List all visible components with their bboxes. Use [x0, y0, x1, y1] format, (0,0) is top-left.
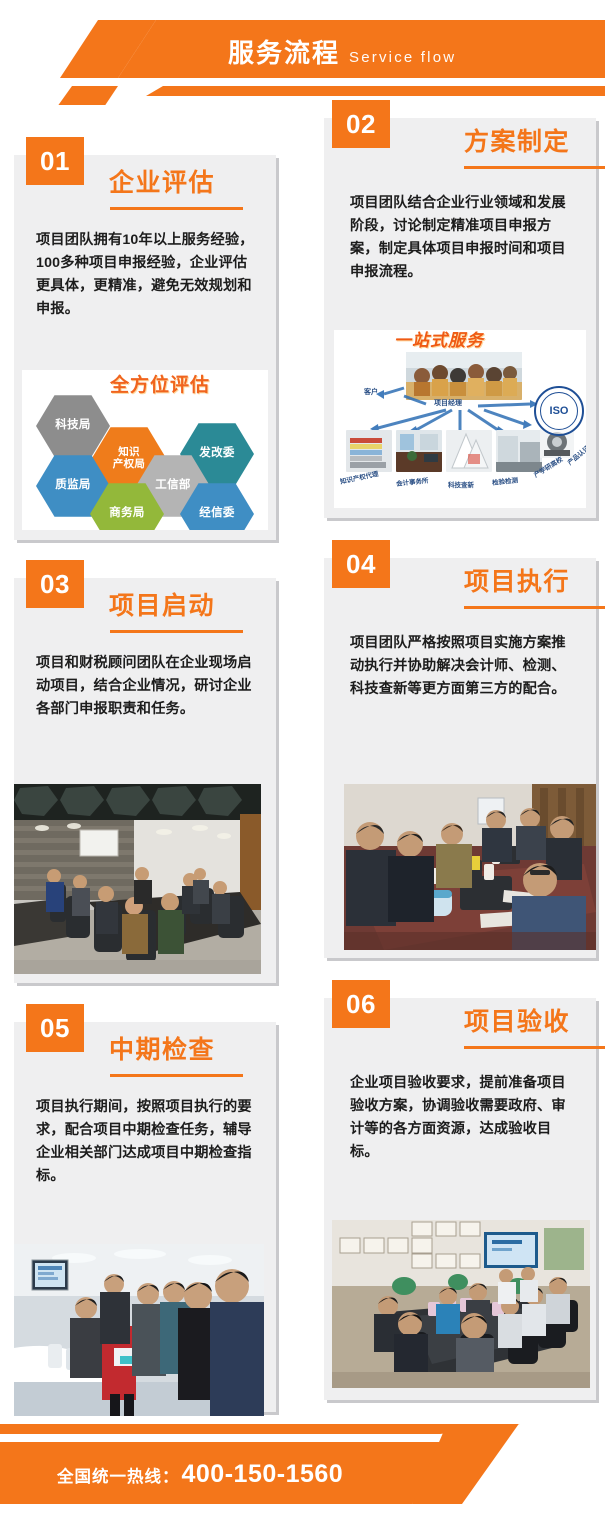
- one-stop-seal-icon: ISO: [534, 386, 584, 436]
- card-01-head: 01 企业评估: [14, 155, 276, 229]
- header-banner-shape: [0, 0, 605, 105]
- hex-node-label: 工信部: [155, 479, 190, 492]
- card-06-head: 06 项目验收: [324, 998, 596, 1072]
- step-card-01[interactable]: 01 企业评估 项目团队拥有10年以上服务经验，100多种项目申报经验，企业评估…: [14, 155, 276, 540]
- footer-banner: 全国统一热线： 400-150-1560: [0, 1424, 605, 1524]
- one-stop-diagram: 一站式服务: [334, 330, 586, 508]
- header-main-bar: [118, 20, 605, 78]
- card-04-title-rule: [464, 606, 605, 609]
- card-06-number-badge: 06: [332, 980, 390, 1028]
- photo-boardroom-review: [332, 1220, 590, 1388]
- one-stop-node-manager: 项目经理: [434, 398, 462, 408]
- hex-diagram-title: 全方位评估: [110, 376, 210, 395]
- photo-conference-room: [14, 784, 261, 974]
- card-03-title: 项目启动: [109, 594, 215, 619]
- card-05-head: 05 中期检查: [14, 1022, 276, 1096]
- card-02-head: 02 方案制定: [324, 118, 596, 192]
- footer-accent-stripe: [0, 1424, 460, 1434]
- step-card-04[interactable]: 04 项目执行 项目团队严格按照项目实施方案推动执行并协助解决会计师、检测、科技…: [324, 558, 596, 958]
- card-06-title-rule: [464, 1046, 605, 1049]
- hex-node-label: 发改委: [199, 447, 234, 460]
- hex-node-label: 经信委: [199, 507, 234, 520]
- card-02-number-badge: 02: [332, 100, 390, 148]
- header-slant-stripe: [42, 86, 118, 105]
- header-accent-stripe: [146, 86, 605, 96]
- header-banner: 服务流程 Service flow: [0, 0, 605, 105]
- card-01-title: 企业评估: [109, 171, 215, 196]
- card-03-title-rule: [110, 630, 243, 633]
- lobby-visit-art: [14, 1244, 264, 1416]
- one-stop-thumb-ip: [346, 430, 392, 472]
- card-02-body: 项目团队结合企业行业领域和发展阶段，讨论制定精准项目申报方案，制定具体项目申报时…: [324, 192, 596, 284]
- footer-banner-shape: [0, 1424, 605, 1534]
- card-06-body: 企业项目验收要求，提前准备项目验收方案，协调验收需要政府、审计等的各方面资源，达…: [324, 1072, 596, 1164]
- card-02-title-rule: [464, 166, 605, 169]
- card-03-number-badge: 03: [26, 560, 84, 608]
- one-stop-node-customer: 客户: [364, 387, 378, 397]
- card-05-title: 中期检查: [109, 1038, 215, 1063]
- footer-slant-wedge: [412, 1424, 540, 1504]
- hex-node-label: 商务局: [109, 507, 144, 520]
- card-05-number-badge: 05: [26, 1004, 84, 1052]
- card-04-body: 项目团队严格按照项目实施方案推动执行并协助解决会计师、检测、科技查新等更方面第三…: [324, 632, 596, 701]
- one-stop-thumb-search: [446, 430, 492, 472]
- meeting-laptops-art: [344, 784, 596, 950]
- card-04-head: 04 项目执行: [324, 558, 596, 632]
- card-05-body: 项目执行期间，按照项目执行的要求，配合项目中期检查任务，辅导企业相关部门达成项目…: [14, 1096, 276, 1188]
- card-01-title-rule: [110, 207, 243, 210]
- card-04-number-badge: 04: [332, 540, 390, 588]
- one-stop-thumb-accounting: [396, 430, 442, 472]
- card-03-body: 项目和财税顾问团队在企业现场启动项目，结合企业情况，研讨企业各部门申报职责和任务…: [14, 652, 276, 721]
- boardroom-review-art: [332, 1220, 590, 1388]
- conference-room-art: [14, 784, 261, 974]
- card-03-head: 03 项目启动: [14, 578, 276, 652]
- hex-node-label: 科技局: [55, 419, 90, 432]
- card-02-title: 方案制定: [464, 130, 570, 155]
- one-stop-thumb-inspection: [496, 430, 542, 472]
- card-05-title-rule: [110, 1074, 243, 1077]
- photo-meeting-laptops: [344, 784, 596, 950]
- one-stop-seal-text: ISO: [550, 405, 569, 417]
- step-card-05[interactable]: 05 中期检查 项目执行期间，按照项目执行的要求，配合项目中期检查任务，辅导企业…: [14, 1022, 276, 1412]
- footer-main-bar: [0, 1442, 450, 1504]
- step-card-03[interactable]: 03 项目启动 项目和财税顾问团队在企业现场启动项目，结合企业情况，研讨企业各部…: [14, 578, 276, 983]
- card-01-number-badge: 01: [26, 137, 84, 185]
- hex-node-label: 质监局: [55, 479, 90, 492]
- card-06-title: 项目验收: [464, 1010, 570, 1035]
- hex-diagram: 全方位评估 科技局 知识产权局 发改委 质监局 工信部 商务局 经信委: [22, 370, 268, 530]
- card-01-body: 项目团队拥有10年以上服务经验，100多种项目申报经验，企业评估更具体，更精准，…: [14, 229, 276, 321]
- step-card-06[interactable]: 06 项目验收 企业项目验收要求，提前准备项目验收方案，协调验收需要政府、审计等…: [324, 998, 596, 1400]
- step-card-02[interactable]: 02 方案制定 项目团队结合企业行业领域和发展阶段，讨论制定精准项目申报方案，制…: [324, 118, 596, 518]
- photo-lobby-visit: [14, 1244, 264, 1416]
- card-04-title: 项目执行: [464, 570, 570, 595]
- one-stop-label-search: 科技查新: [448, 479, 474, 489]
- hex-node-label: 知识产权局: [113, 446, 145, 470]
